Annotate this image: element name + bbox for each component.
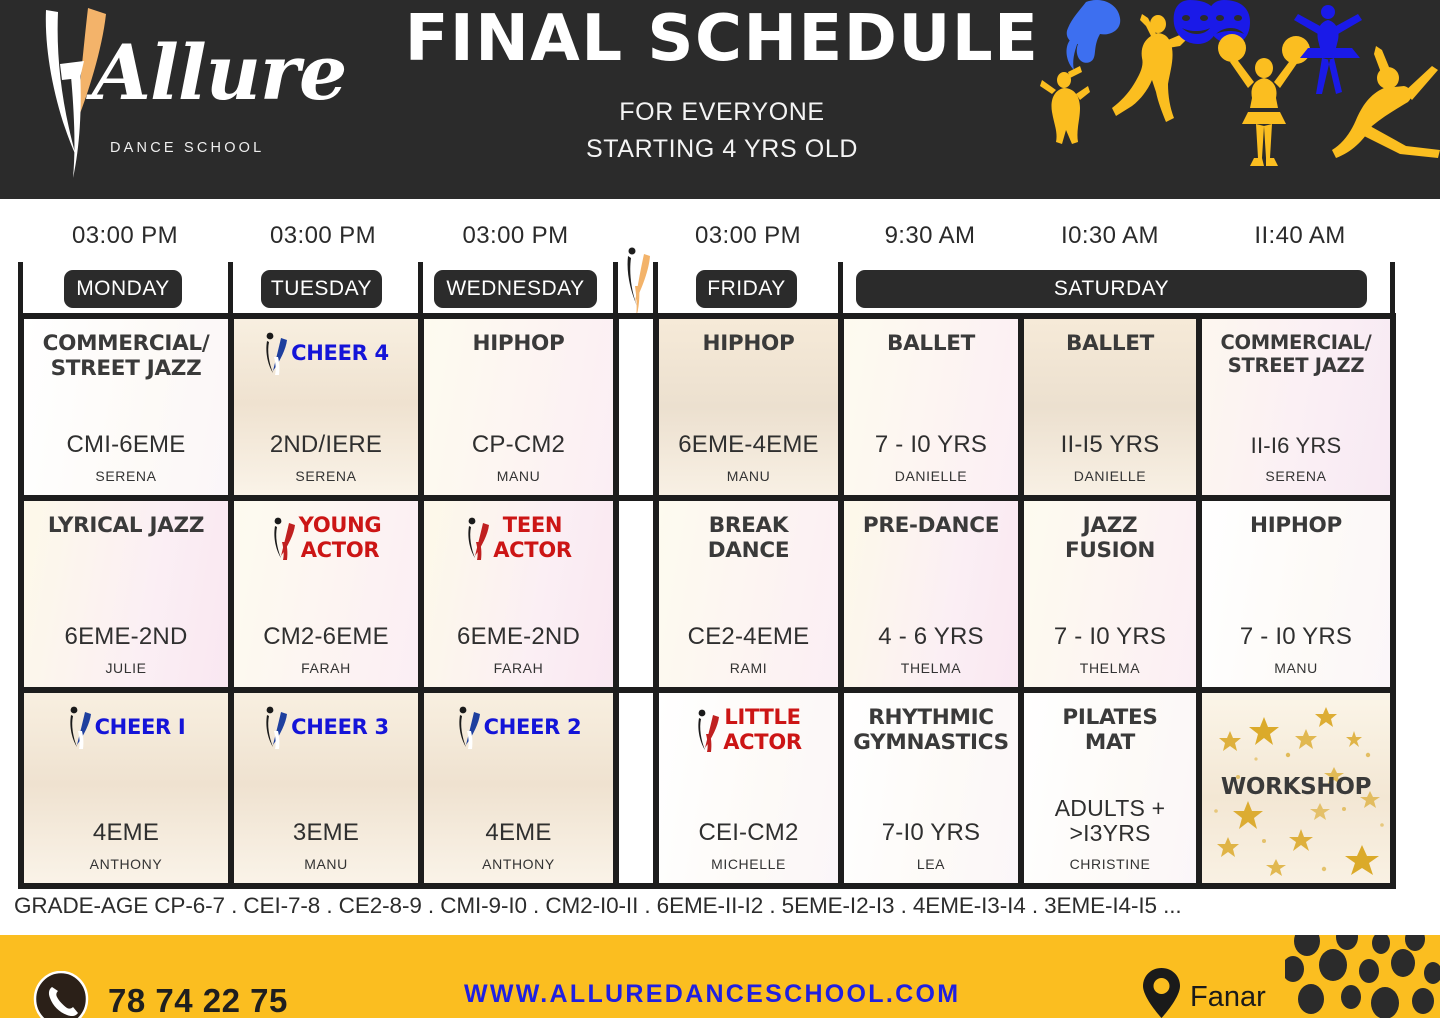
class-cell-sat1-row1[interactable]: BALLET 7 - I0 YRS DANIELLE [844,319,1018,495]
class-title-row: CHEER 4 [234,331,418,375]
class-cell-sat2-row1[interactable]: BALLET II-I5 YRS DANIELLE [1024,319,1196,495]
class-level: 6EME-4EME [678,432,819,459]
class-cell-sat3-row1[interactable]: COMMERCIAL/ STREET JAZZ II-I6 YRS SERENA [1202,319,1390,495]
footer-location: Fanar [1190,981,1266,1014]
schedule-poster: Allure DANCE SCHOOL FINAL SCHEDULE FOR E… [0,0,1440,1018]
class-teacher: THELMA [1080,660,1140,676]
header-divider-1 [18,262,23,317]
day-header-monday[interactable]: MONDAY [64,270,182,308]
cheer-quill-icon [263,331,289,375]
class-title-line2: MAT [1062,730,1157,755]
header-divider-6 [838,262,843,317]
class-teacher: SERENA [95,468,156,484]
header-divider-4 [613,262,618,317]
class-cell-sat3-row2[interactable]: HIPHOP 7 - I0 YRS MANU [1202,501,1390,687]
class-teacher: MANU [1274,660,1318,676]
class-title-row: COMMERCIAL/ STREET JAZZ [24,331,228,382]
class-teacher: DANIELLE [895,468,968,484]
day-header-wednesday[interactable]: WEDNESDAY [434,270,597,308]
class-title-line1: JAZZ [1065,513,1155,538]
class-teacher: DANIELLE [1074,468,1147,484]
class-cell-tuesday-row3[interactable]: CHEER 3 3EME MANU [234,693,418,883]
phone-icon[interactable] [33,971,89,1018]
class-teacher: SERENA [295,468,356,484]
day-header-row: MONDAY TUESDAY WEDNESDAY FRIDAY SATURDAY [0,270,1440,310]
time-sat-2: I0:30 AM [1020,222,1200,250]
class-title-row: CHEER 3 [234,705,418,749]
class-level: 7 - I0 YRS [1240,624,1352,651]
class-title-line1: CHEER 3 [291,715,389,740]
gymnast-silhouette [1332,46,1440,158]
cheer-quill-icon [456,705,482,749]
class-level: ADULTS + >I3YRS [1055,796,1165,848]
actor-quill-icon [465,516,491,560]
grid-vline-3 [613,313,619,889]
class-title-line2: GYMNASTICS [853,730,1009,755]
class-level: II-I6 YRS [1251,434,1342,459]
class-title-line1: HIPHOP [703,331,795,356]
class-title-line2: ACTOR [723,730,802,755]
schedule-grid: COMMERCIAL/ STREET JAZZ CMI-6EME SERENA … [18,313,1396,889]
grade-age-legend: GRADE-AGE CP-6-7 . CEI-7-8 . CE2-8-9 . C… [14,893,1434,919]
jumping-child-silhouette [1040,66,1090,144]
class-title-line1: PILATES [1062,705,1157,730]
class-teacher: RAMI [730,660,767,676]
cheer-quill-icon [263,705,289,749]
class-cell-sat2-row3[interactable]: PILATES MAT ADULTS + >I3YRS CHRISTINE [1024,693,1196,883]
header-subtitle-1: FOR EVERYONE [372,98,1072,127]
time-sat-3: II:40 AM [1205,222,1395,250]
class-cell-wednesday-row1[interactable]: HIPHOP CP-CM2 MANU [424,319,613,495]
class-teacher: ANTHONY [482,856,555,872]
class-title-line2: STREET JAZZ [1221,354,1372,377]
brand-name: Allure [92,28,346,117]
day-header-tuesday[interactable]: TUESDAY [261,270,382,308]
class-cell-wednesday-row2[interactable]: TEEN ACTOR 6EME-2ND FARAH [424,501,613,687]
class-title-line2: ACTOR [299,538,382,563]
class-title-line2: STREET JAZZ [43,356,210,381]
class-cell-wednesday-row3[interactable]: CHEER 2 4EME ANTHONY [424,693,613,883]
grid-vline-8 [1390,313,1396,889]
class-title-line2: ACTOR [493,538,572,563]
class-teacher: MANU [727,468,771,484]
class-level: CEI-CM2 [698,820,798,847]
class-title-line1: PRE-DANCE [863,513,999,538]
class-cell-tuesday-row1[interactable]: CHEER 4 2ND/IERE SERENA [234,319,418,495]
header-divider-7 [1390,262,1395,317]
brand-logo-block: Allure DANCE SCHOOL [0,0,320,199]
class-title-line2: FUSION [1065,538,1155,563]
class-cell-tuesday-row2[interactable]: YOUNG ACTOR CM2-6EME FARAH [234,501,418,687]
class-title-row: CHEER 2 [424,705,613,749]
footer-phone-number[interactable]: 78 74 22 75 [108,982,288,1018]
header-divider-2 [228,262,233,317]
class-cell-friday-row2[interactable]: BREAK DANCE CE2-4EME RAMI [659,501,838,687]
poster-header: Allure DANCE SCHOOL FINAL SCHEDULE FOR E… [0,0,1440,199]
class-title-line1: BREAK [708,513,789,538]
class-teacher: JULIE [105,660,146,676]
class-teacher: ANTHONY [90,856,163,872]
class-cell-friday-row3[interactable]: LITTLE ACTOR CEI-CM2 MICHELLE [659,693,838,883]
class-level: 4EME [93,820,159,847]
page-title: FINAL SCHEDULE [372,2,1072,76]
class-level: 4 - 6 YRS [878,624,983,651]
actor-quill-icon [271,516,297,560]
class-title-line1: COMMERCIAL/ [43,331,210,356]
class-cell-monday-row3[interactable]: CHEER I 4EME ANTHONY [24,693,228,883]
class-title-line1: YOUNG [299,513,382,538]
time-wednesday: 03:00 PM [418,222,613,250]
class-teacher: FARAH [301,660,351,676]
class-level: 4EME [485,820,551,847]
header-subtitle-2: STARTING 4 YRS OLD [372,135,1072,164]
class-teacher: MICHELLE [711,856,786,872]
header-divider-5 [653,262,658,317]
class-title-row: CHEER I [24,705,228,749]
class-level: 3EME [293,820,359,847]
class-level: CM2-6EME [263,624,389,651]
class-title-line1: CHEER 4 [291,341,389,366]
class-title-row: TEEN ACTOR [424,513,613,563]
class-teacher: FARAH [494,660,544,676]
class-teacher: THELMA [901,660,961,676]
header-divider-3 [418,262,423,317]
class-cell-friday-row1[interactable]: HIPHOP 6EME-4EME MANU [659,319,838,495]
class-teacher: CHRISTINE [1070,856,1151,872]
breakdancer-silhouette [1067,0,1121,70]
time-header-row: 03:00 PM 03:00 PM 03:00 PM 03:00 PM 9:30… [0,222,1440,262]
class-level: CMI-6EME [67,432,186,459]
class-level: 6EME-2ND [65,624,188,651]
class-title-row: LITTLE ACTOR [659,705,838,755]
class-title-line1: WORKSHOP [1221,774,1371,801]
divider-quill-icon [623,246,653,318]
time-tuesday: 03:00 PM [228,222,418,250]
class-cell-monday-row2[interactable]: LYRICAL JAZZ 6EME-2ND JULIE [24,501,228,687]
class-level: CE2-4EME [688,624,810,651]
map-pin-icon [1143,968,1180,1018]
dance-silhouettes [1040,0,1440,180]
time-sat-1: 9:30 AM [840,222,1020,250]
class-title-line1: CHEER 2 [484,715,582,740]
class-level: 7 - I0 YRS [875,432,987,459]
class-cell-sat3-row3[interactable]: WORKSHOP [1202,693,1390,883]
dot-cluster-decoration [1285,935,1440,1018]
class-level: 6EME-2ND [457,624,580,651]
class-cell-sat1-row2[interactable]: PRE-DANCE 4 - 6 YRS THELMA [844,501,1018,687]
class-title-line1: HIPHOP [1250,513,1342,538]
class-teacher: MANU [497,468,541,484]
class-title-line1: RHYTHMIC [853,705,1009,730]
grid-hline-bottom [18,883,1396,889]
class-teacher: LEA [917,856,945,872]
class-title-line1: LITTLE [723,705,802,730]
class-title-line1: COMMERCIAL/ [1221,331,1372,354]
class-title-line1: LYRICAL JAZZ [48,513,204,538]
class-title-row: YOUNG ACTOR [234,513,418,563]
day-header-friday[interactable]: FRIDAY [696,270,797,308]
class-teacher: SERENA [1265,468,1326,484]
class-level: 7 - I0 YRS [1054,624,1166,651]
class-title-line1: BALLET [887,331,975,356]
class-teacher: MANU [304,856,348,872]
actor-quill-icon [695,708,721,752]
footer-website[interactable]: WWW.ALLUREDANCESCHOOL.COM [464,980,960,1009]
class-title-line1: HIPHOP [473,331,565,356]
class-level: 7-I0 YRS [882,820,981,847]
day-header-saturday[interactable]: SATURDAY [856,270,1367,308]
time-monday: 03:00 PM [22,222,228,250]
time-friday: 03:00 PM [658,222,838,250]
cheerleader-silhouette [1218,34,1310,166]
class-title-line1: TEEN [493,513,572,538]
class-cell-sat2-row2[interactable]: JAZZ FUSION 7 - I0 YRS THELMA [1024,501,1196,687]
brand-tagline: DANCE SCHOOL [110,140,264,156]
cheer-quill-icon [67,705,93,749]
class-title-line2: DANCE [708,538,789,563]
class-title-line1: BALLET [1066,331,1154,356]
class-level: CP-CM2 [472,432,565,459]
class-cell-sat1-row3[interactable]: RHYTHMIC GYMNASTICS 7-I0 YRS LEA [844,693,1018,883]
class-title-line1: CHEER I [95,715,186,740]
class-cell-monday-row1[interactable]: COMMERCIAL/ STREET JAZZ CMI-6EME SERENA [24,319,228,495]
class-level: 2ND/IERE [270,432,382,459]
class-level: II-I5 YRS [1061,432,1160,459]
